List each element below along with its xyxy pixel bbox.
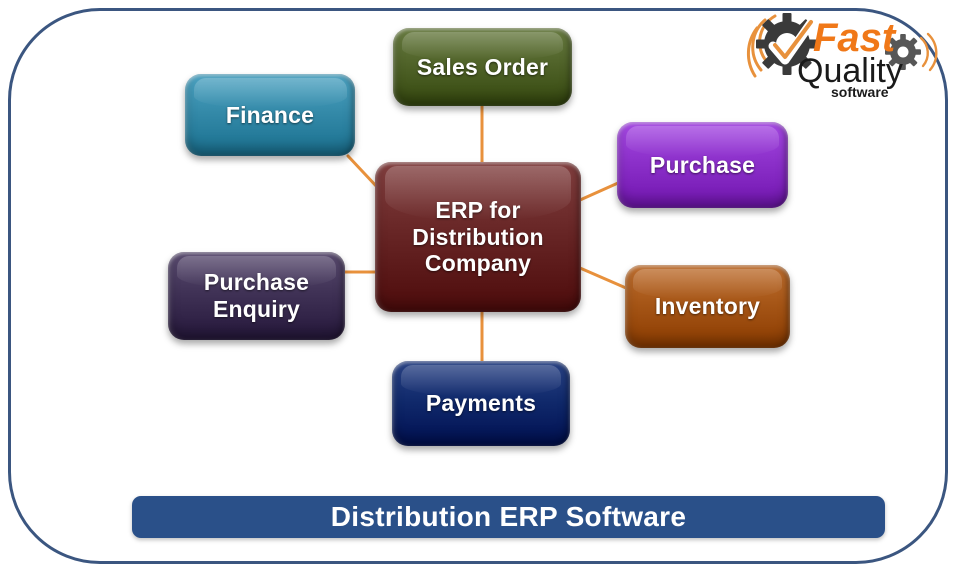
- node-payments-label: Payments: [420, 390, 542, 417]
- node-sales-order[interactable]: Sales Order: [393, 28, 572, 106]
- node-inventory-label: Inventory: [649, 293, 766, 320]
- node-purchase-enquiry-label: PurchaseEnquiry: [198, 269, 315, 322]
- node-inventory[interactable]: Inventory: [625, 265, 790, 348]
- center-node-label: ERP forDistributionCompany: [406, 197, 549, 277]
- node-payments[interactable]: Payments: [392, 361, 570, 446]
- bottom-banner-title: Distribution ERP Software: [331, 501, 686, 533]
- node-finance[interactable]: Finance: [185, 74, 355, 156]
- node-purchase[interactable]: Purchase: [617, 122, 788, 208]
- diagram-canvas: ERP forDistributionCompany Sales Order F…: [0, 0, 960, 576]
- logo-word-software: software: [831, 84, 889, 100]
- fast-quality-software-logo: Fast Quality software: [735, 8, 950, 103]
- node-finance-label: Finance: [220, 102, 320, 129]
- node-purchase-label: Purchase: [644, 152, 761, 179]
- bottom-banner: Distribution ERP Software: [132, 496, 885, 538]
- center-node-erp[interactable]: ERP forDistributionCompany: [375, 162, 581, 312]
- node-sales-order-label: Sales Order: [411, 54, 554, 81]
- node-purchase-enquiry[interactable]: PurchaseEnquiry: [168, 252, 345, 340]
